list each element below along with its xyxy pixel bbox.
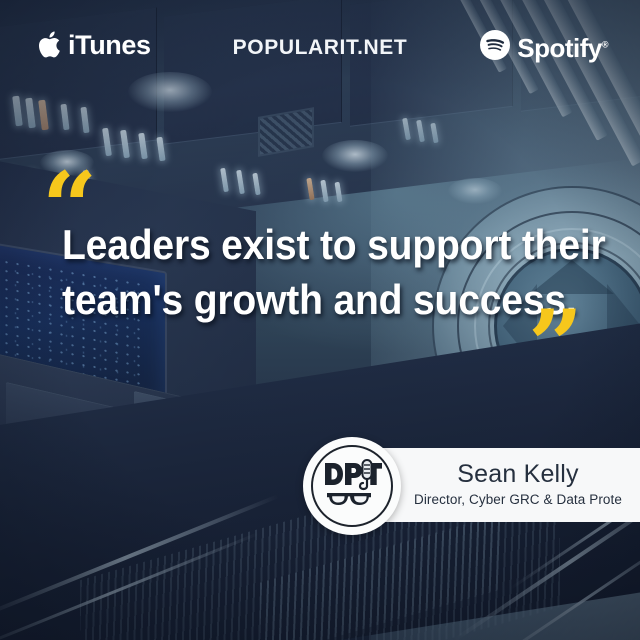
header-bar: iTunes POPULARIT.NET Spotify® [0, 0, 640, 88]
quote-line-2: team's growth and success. [62, 273, 546, 328]
quote-text: Leaders exist to support their team's gr… [62, 218, 546, 327]
itunes-label: iTunes [68, 32, 151, 59]
podcast-logo-ring [311, 445, 393, 527]
podcast-logo-art [321, 457, 383, 515]
spotify-label: Spotify® [517, 35, 608, 61]
itunes-brand: iTunes [38, 30, 151, 60]
spotify-icon [480, 30, 510, 65]
closing-quote-mark: ” [528, 298, 583, 394]
podcast-logo-badge [303, 437, 401, 535]
apple-icon [38, 30, 64, 60]
social-quote-card: iTunes POPULARIT.NET Spotify® “ Leaders … [0, 0, 640, 640]
speaker-name: Sean Kelly [392, 461, 640, 488]
site-name: POPULARIT.NET [233, 36, 408, 60]
quote-line-1: Leaders exist to support their [62, 218, 546, 273]
speaker-title: Director, Cyber GRC & Data Prote [392, 492, 640, 508]
spotify-brand: Spotify® [480, 30, 608, 65]
spotify-trademark: ® [602, 39, 608, 49]
